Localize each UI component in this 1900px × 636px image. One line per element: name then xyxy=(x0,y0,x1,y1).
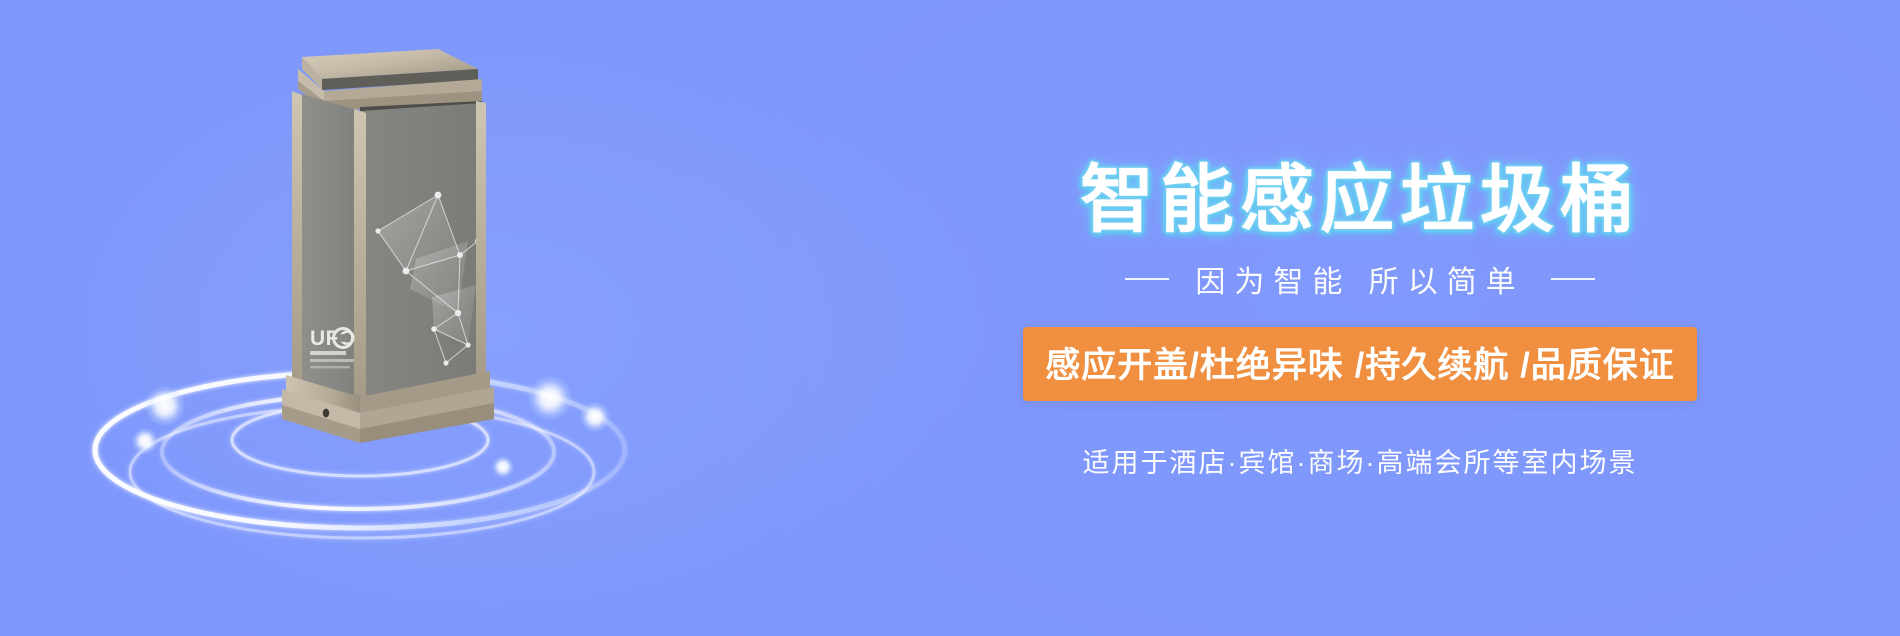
subtitle-text: 因为智能 所以简单 xyxy=(1191,257,1528,301)
trash-bin-graphic: UFO xyxy=(210,45,530,465)
copy-block: 智能感应垃圾桶 因为智能 所以简单 感应开盖/杜绝异味 /持久续航 /品质保证 … xyxy=(860,0,1860,636)
feature-highlight-bar: 感应开盖/杜绝异味 /持久续航 /品质保证 xyxy=(1023,327,1697,401)
usage-scenario-text: 适用于酒店·宾馆·商场·高端会所等室内场景 xyxy=(1083,441,1638,480)
dash-right-icon xyxy=(1551,278,1595,280)
dash-left-icon xyxy=(1125,278,1169,280)
headline: 智能感应垃圾桶 xyxy=(1080,162,1640,239)
promo-banner: UFO 智能感应垃圾桶 因为 xyxy=(0,0,1900,636)
product-stage: UFO xyxy=(60,20,740,620)
subtitle-row: 因为智能 所以简单 xyxy=(1125,257,1594,301)
